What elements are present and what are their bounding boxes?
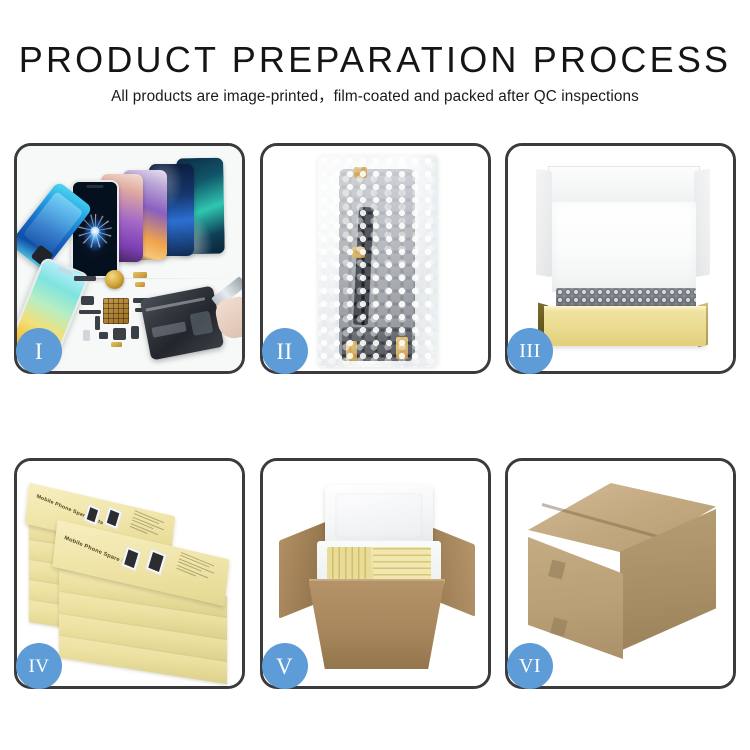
phone-front-icon — [71, 180, 119, 278]
component-bar-icon — [74, 276, 96, 281]
phone-notch-icon — [87, 185, 104, 188]
bubble-texture-overlay-icon — [318, 155, 438, 367]
box-spec-lines-icon — [176, 552, 220, 587]
step-card-4[interactable]: Mobile Phone Spare Parts Mobile Phone Sp… — [14, 458, 245, 689]
housing-band-icon — [146, 297, 205, 311]
page-header: PRODUCT PREPARATION PROCESS All products… — [0, 0, 750, 107]
box-lid-flap-right-icon — [694, 169, 710, 278]
step-card-5[interactable]: V — [260, 458, 491, 689]
component-gold-icon — [135, 282, 145, 287]
component-flex-icon — [79, 310, 101, 314]
step-card-1[interactable]: I — [14, 143, 245, 374]
housing-camera-icon — [189, 311, 213, 336]
box-tray-icon — [544, 308, 706, 346]
component-pin-icon — [95, 316, 100, 330]
page-subtitle: All products are image-printed，film-coat… — [0, 87, 750, 107]
foam-cooler-lid-icon — [325, 485, 433, 547]
box-window-icon — [103, 506, 123, 530]
step-badge-3: III — [507, 328, 553, 374]
component-module-icon — [131, 326, 139, 339]
step-badge-5: V — [262, 643, 308, 689]
open-kraft-box-icon — [530, 166, 716, 346]
component-gold-icon — [111, 342, 122, 347]
step-badge-4: IV — [16, 643, 62, 689]
box-window-icon — [120, 545, 142, 572]
foam-lid-inset-icon — [335, 493, 423, 539]
housing-battery-icon — [151, 321, 186, 337]
sealed-carton-icon — [526, 483, 718, 665]
carton-body-icon — [309, 581, 445, 669]
phone-notch-icon — [58, 267, 73, 275]
chip-grid-icon — [103, 298, 129, 324]
bubble-wrap-bag-icon — [318, 155, 438, 367]
step-badge-1: I — [16, 328, 62, 374]
component-gold-icon — [133, 272, 147, 278]
foam-sheet-icon — [552, 202, 696, 292]
step-badge-6: VI — [507, 643, 553, 689]
screen-burst-core-icon — [91, 226, 100, 235]
component-block-icon — [81, 296, 94, 305]
step-badge-2: II — [262, 328, 308, 374]
open-carton-icon — [279, 479, 475, 669]
box-lid-flap-left-icon — [536, 169, 552, 278]
page-title: PRODUCT PREPARATION PROCESS — [0, 40, 750, 80]
box-tray-edge-icon — [544, 306, 706, 311]
component-lens-icon — [83, 330, 90, 341]
step-card-2[interactable]: II — [260, 143, 491, 374]
box-lid-back-icon — [548, 166, 700, 206]
step-card-3[interactable]: III — [505, 143, 736, 374]
component-small-icon — [99, 332, 108, 339]
box-stack-icon: Mobile Phone Spare Parts Mobile Phone Sp… — [25, 475, 237, 675]
process-steps-grid: I II — [14, 143, 736, 674]
component-camera-icon — [113, 328, 126, 340]
speaker-coil-icon — [105, 270, 124, 289]
box-window-icon — [145, 548, 168, 576]
carton-front-icon — [528, 537, 623, 659]
step-card-6[interactable]: VI — [505, 458, 736, 689]
